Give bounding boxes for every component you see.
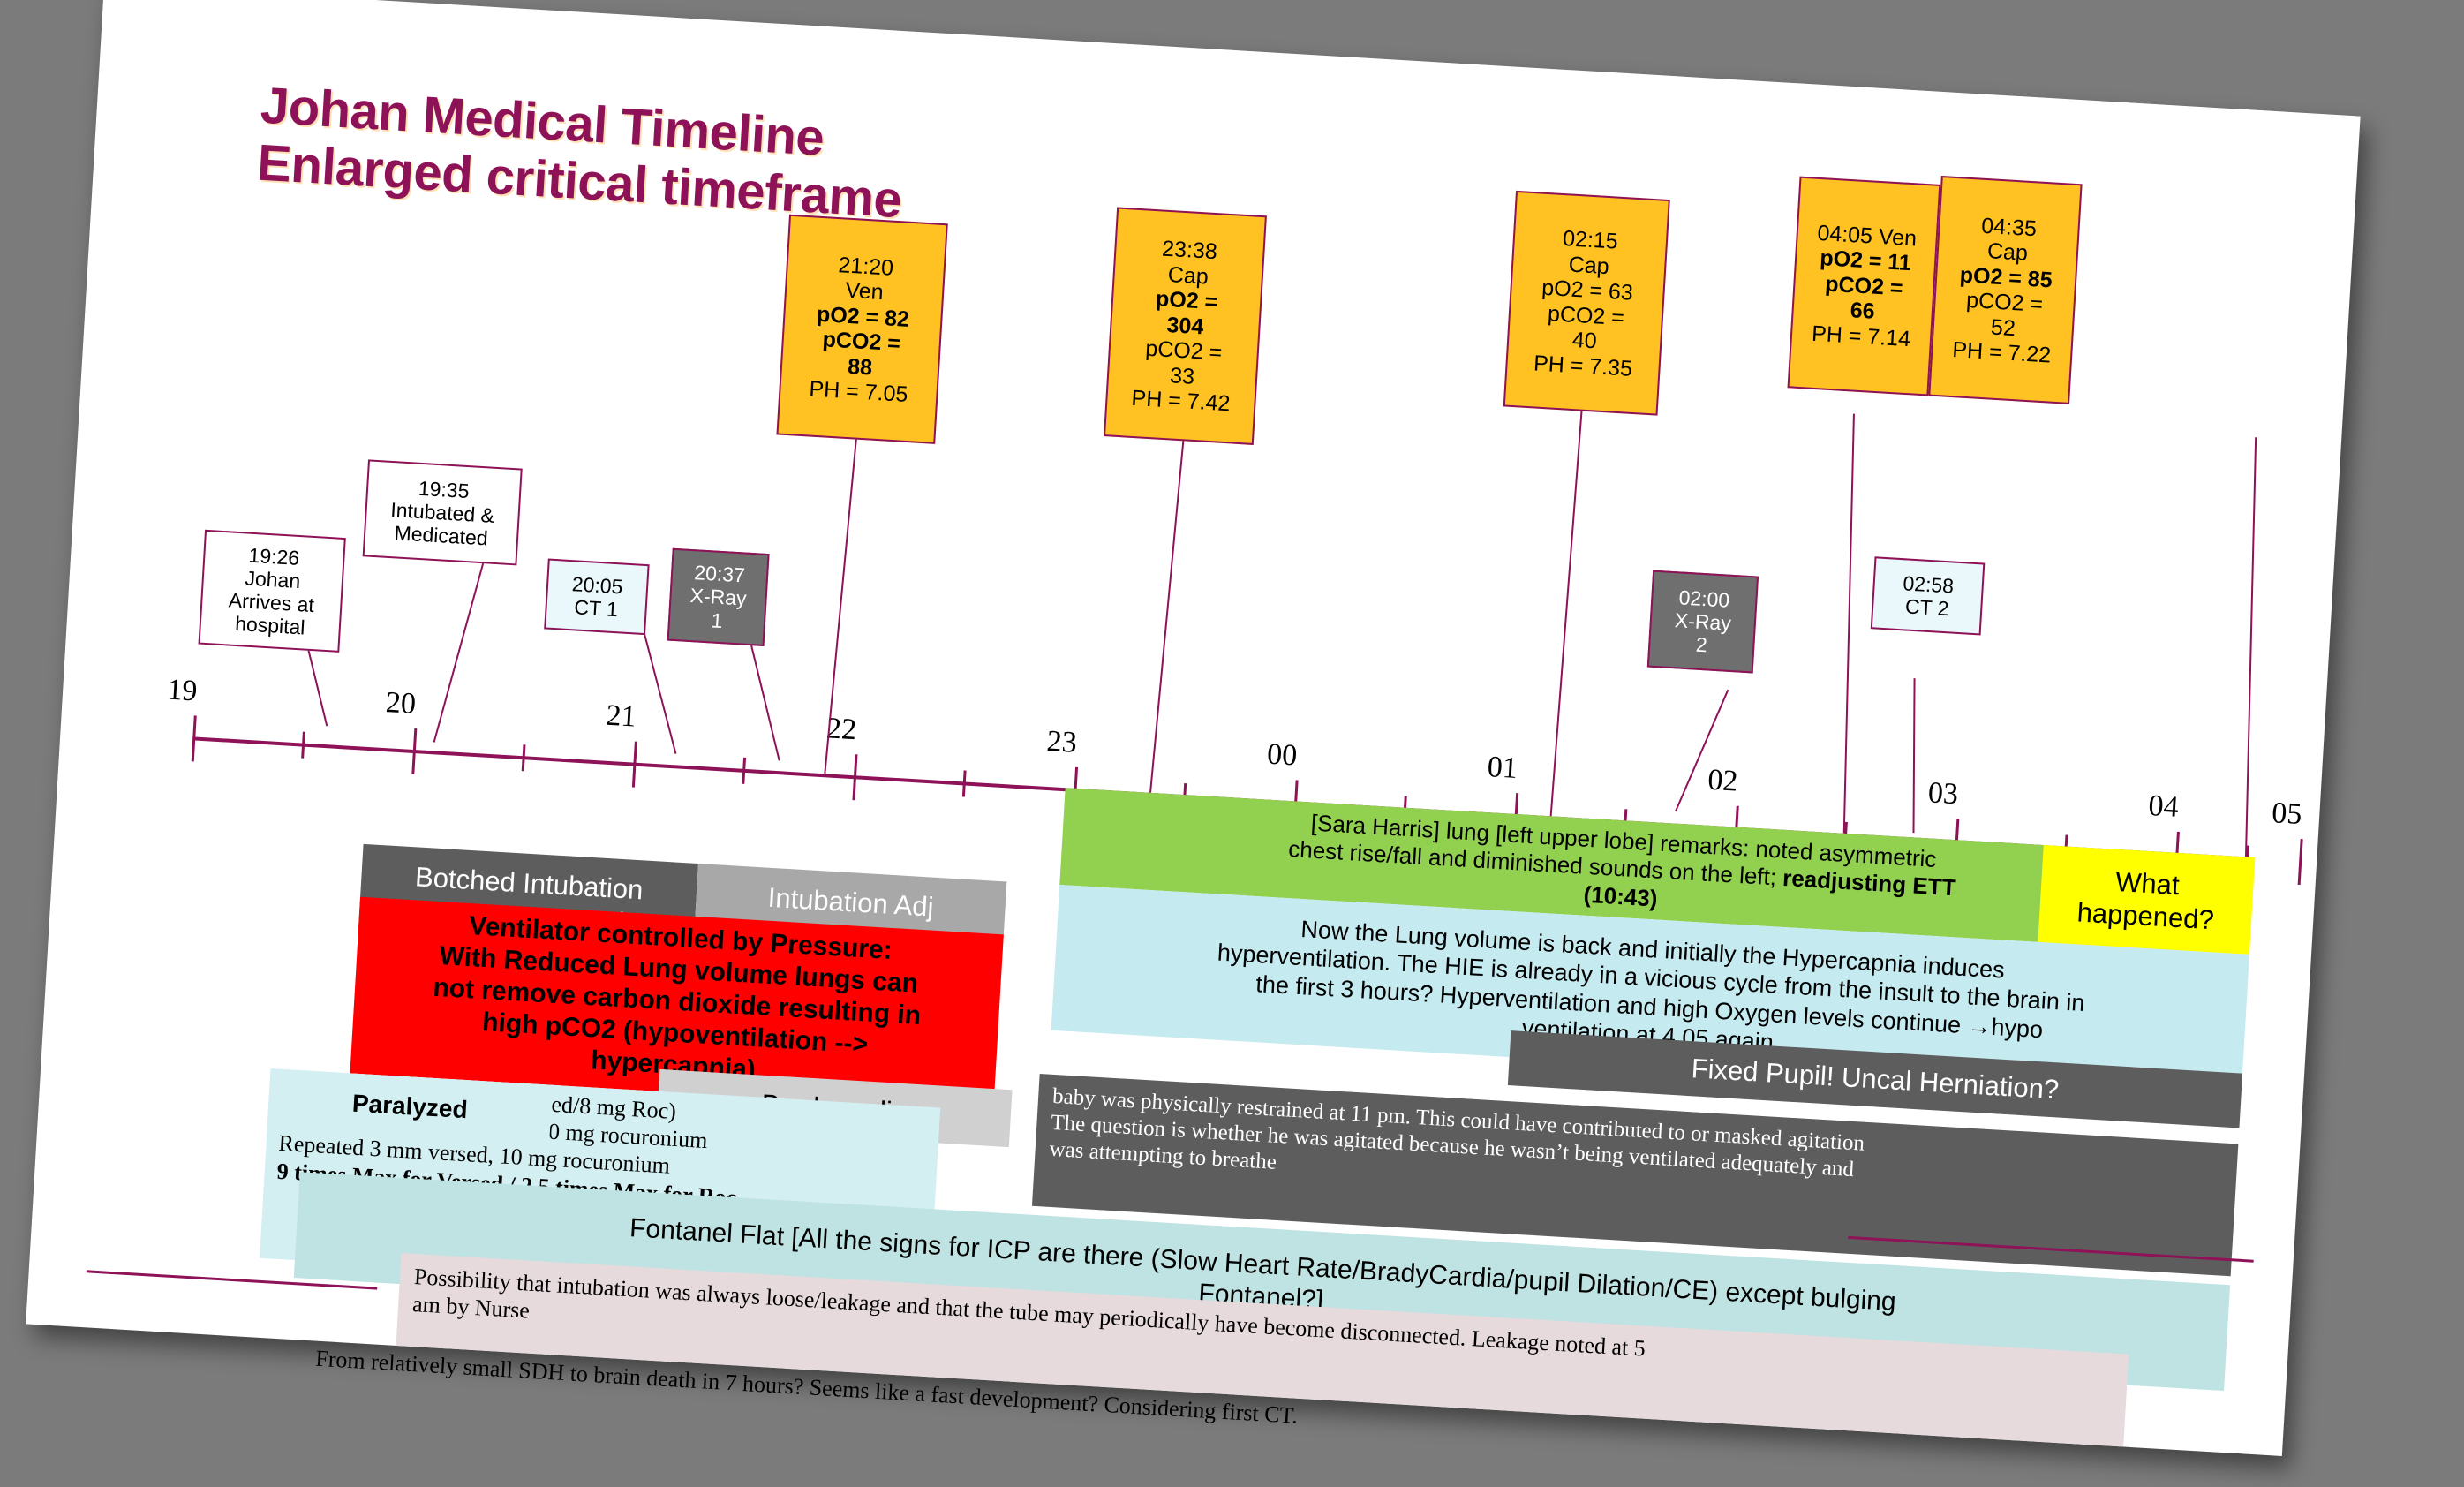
axis-label-05: 05 bbox=[2271, 796, 2302, 832]
axis-label-03: 03 bbox=[1927, 776, 1959, 811]
bloodgas-0405-text: 04:05 VenpO2 = 11pCO2 =66PH = 7.14 bbox=[1811, 221, 1918, 352]
event-box-intubated[interactable]: 19:35 Intubated & Medicated bbox=[363, 459, 523, 565]
leader-line-intubated bbox=[433, 546, 489, 742]
banner-paralyzed-text: Paralyzed bbox=[351, 1089, 468, 1125]
leader-line-bg0435 bbox=[2245, 437, 2257, 857]
axis-label-21: 21 bbox=[605, 699, 637, 735]
axis-label-20: 20 bbox=[385, 686, 417, 721]
banner-what-happened: What happened? bbox=[2038, 845, 2255, 955]
axis-label-01: 01 bbox=[1487, 751, 1518, 786]
page-title: Johan Medical Timeline Enlarged critical… bbox=[256, 78, 907, 230]
banner-what-happened-text: What happened? bbox=[2076, 863, 2217, 936]
bloodgas-line: PH = 7.05 bbox=[809, 376, 908, 407]
axis-tick-05 bbox=[2298, 839, 2303, 885]
bloodgas-box-0405[interactable]: 04:05 VenpO2 = 11pCO2 =66PH = 7.14 bbox=[1788, 177, 1941, 396]
bloodgas-2120-text: 21:20VenpO2 = 82pCO2 =88PH = 7.05 bbox=[809, 251, 916, 407]
event-box-xray2-text: 02:00 X-Ray 2 bbox=[1673, 585, 1733, 658]
event-box-ct2[interactable]: 02:58 CT 2 bbox=[1871, 556, 1986, 635]
bloodgas-box-2120[interactable]: 21:20VenpO2 = 82pCO2 =88PH = 7.05 bbox=[776, 215, 947, 444]
event-box-ct1[interactable]: 20:05 CT 1 bbox=[544, 558, 649, 635]
bloodgas-2338-text: 23:38CappO2 =304pCO2 =33PH = 7.42 bbox=[1131, 235, 1240, 417]
banner-ventilator-pressure-text: Ventilator controlled by Pressure: With … bbox=[428, 909, 925, 1096]
leader-line-bg0405 bbox=[1843, 414, 1855, 834]
leader-line-bg0215 bbox=[1550, 407, 1583, 817]
bloodgas-0215-text: 02:15CappO2 = 63pCO2 =40PH = 7.35 bbox=[1533, 225, 1640, 381]
bloodgas-box-2338[interactable]: 23:38CappO2 =304pCO2 =33PH = 7.42 bbox=[1104, 207, 1267, 444]
axis-label-00: 00 bbox=[1266, 737, 1298, 773]
event-box-xray1[interactable]: 20:37 X-Ray 1 bbox=[667, 548, 770, 646]
event-box-ct1-text: 20:05 CT 1 bbox=[570, 572, 624, 622]
slide-canvas: Johan Medical Timeline Enlarged critical… bbox=[26, 0, 2360, 1456]
event-box-arrival-text: 19:26 Johan Arrives at hospital bbox=[227, 542, 318, 639]
bloodgas-box-0435[interactable]: 04:35CappO2 = 85pCO2 =52PH = 7.22 bbox=[1928, 176, 2082, 404]
axis-label-02: 02 bbox=[1707, 764, 1738, 799]
bloodgas-line: PH = 7.42 bbox=[1131, 386, 1231, 417]
event-box-arrival[interactable]: 19:26 Johan Arrives at hospital bbox=[199, 530, 346, 653]
event-box-ct2-text: 02:58 CT 2 bbox=[1901, 571, 1955, 621]
bloodgas-0435-text: 04:35CappO2 = 85pCO2 =52PH = 7.22 bbox=[1952, 212, 2060, 368]
leader-line-bg2338 bbox=[1149, 427, 1186, 792]
leader-line-ct2 bbox=[1912, 678, 1915, 833]
event-box-intubated-text: 19:35 Intubated & Medicated bbox=[388, 475, 496, 550]
bloodgas-box-0215[interactable]: 02:15CappO2 = 63pCO2 =40PH = 7.35 bbox=[1503, 191, 1670, 416]
event-box-xray2[interactable]: 02:00 X-Ray 2 bbox=[1647, 570, 1759, 674]
bloodgas-line: PH = 7.14 bbox=[1811, 321, 1911, 351]
bloodgas-line: PH = 7.22 bbox=[1952, 337, 2052, 368]
event-box-xray1-text: 20:37 X-Ray 1 bbox=[688, 561, 748, 633]
leader-line-ct1 bbox=[642, 625, 677, 754]
axis-label-23: 23 bbox=[1046, 725, 1078, 760]
leader-line-xray1 bbox=[747, 631, 780, 760]
axis-label-04: 04 bbox=[2147, 789, 2179, 825]
axis-label-19: 19 bbox=[166, 674, 198, 709]
bloodgas-line: PH = 7.35 bbox=[1533, 351, 1632, 381]
banner-fixed-pupil-text: Fixed Pupil! Uncal Herniation? bbox=[1691, 1053, 2060, 1106]
banner-restrained-text: baby was physically restrained at 11 pm.… bbox=[1049, 1083, 1865, 1211]
